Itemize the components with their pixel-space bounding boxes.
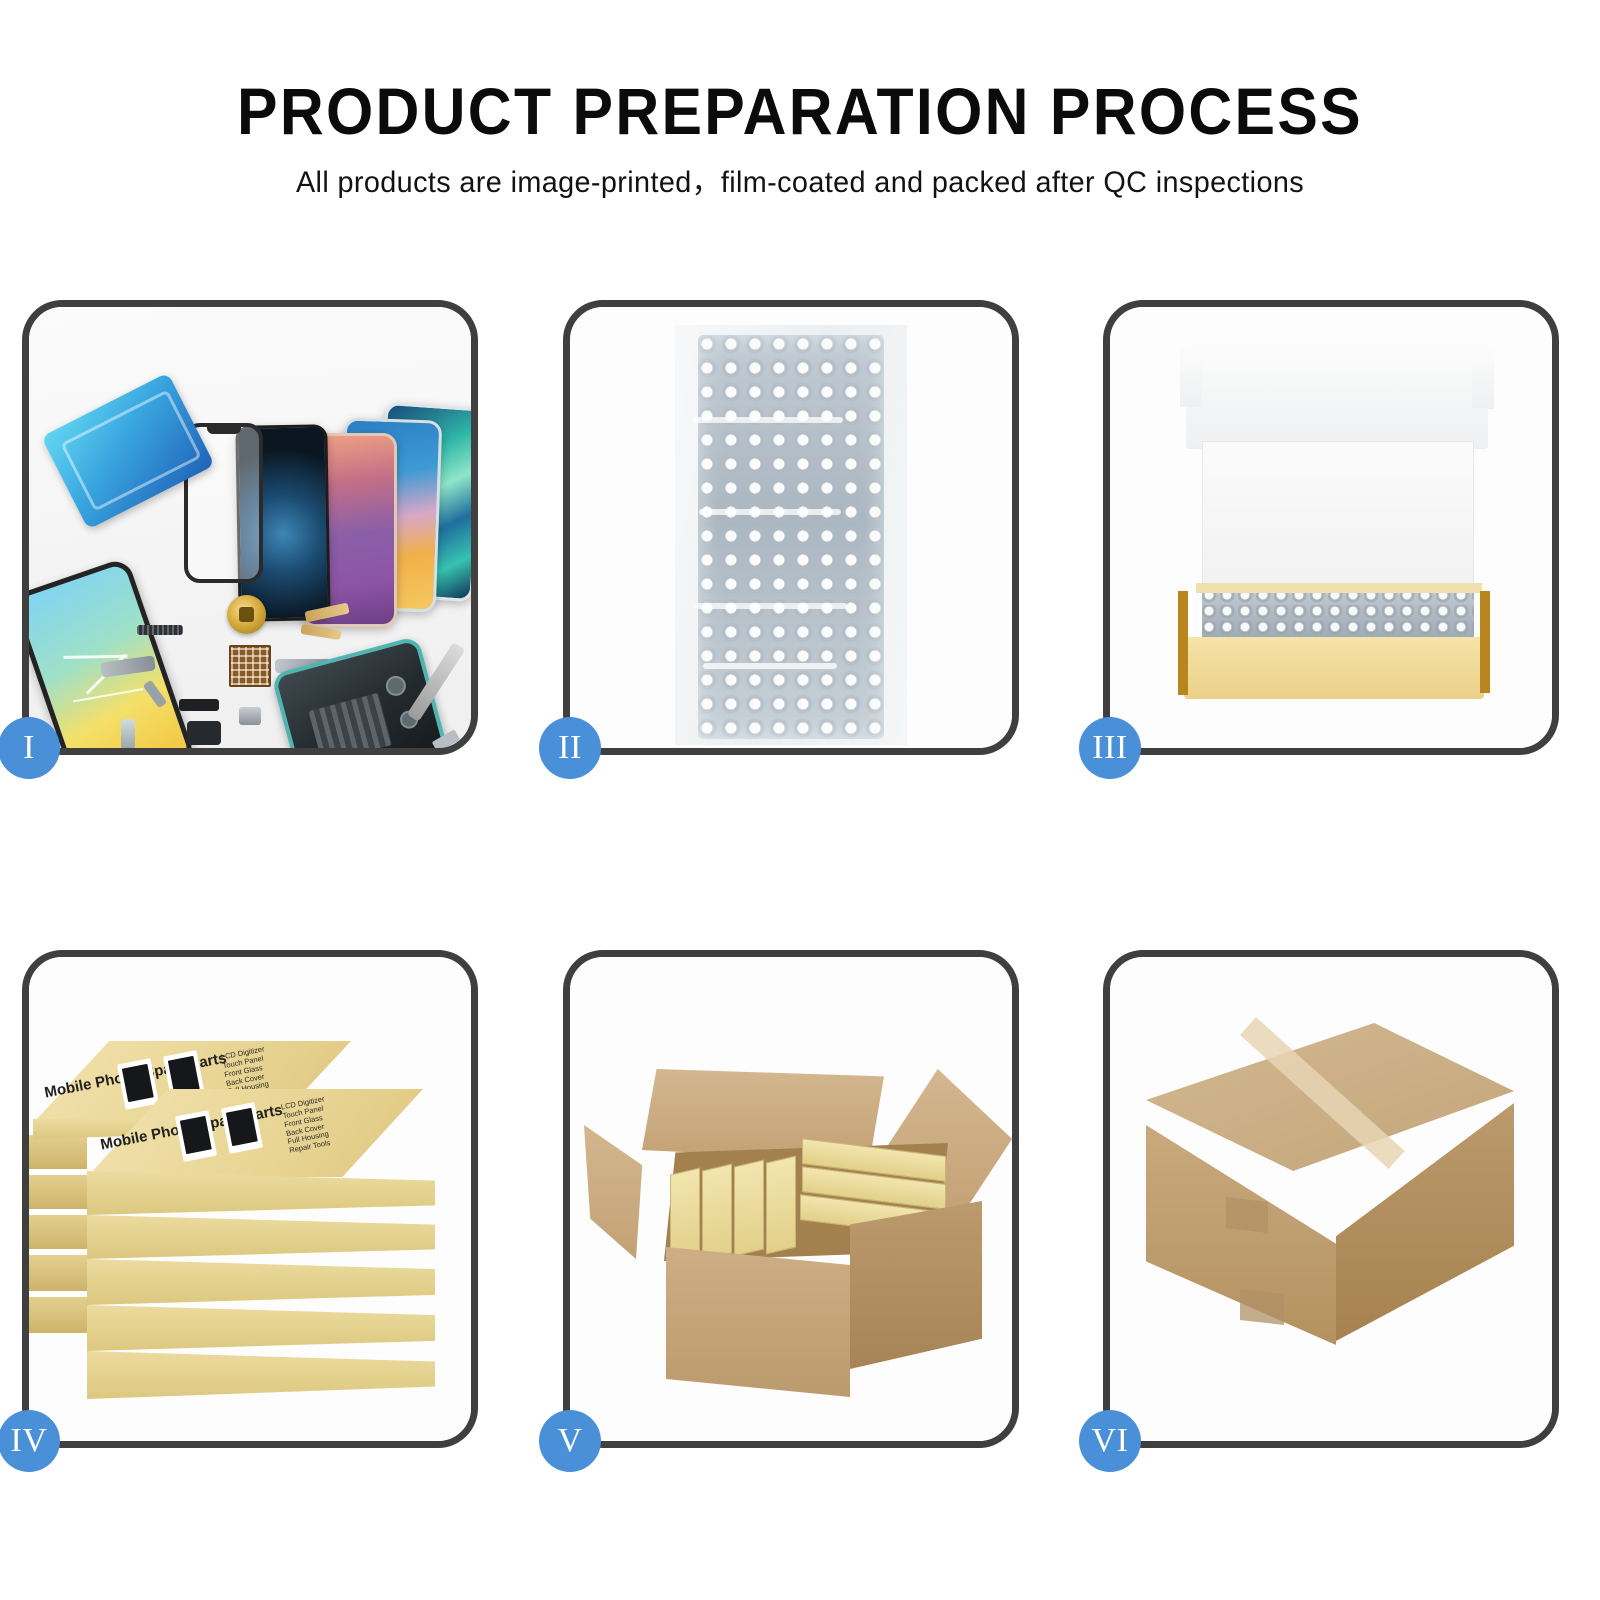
packed-retail-box <box>766 1156 796 1255</box>
bubble-bag <box>675 325 907 745</box>
page-subtitle: All products are image-printed，film-coat… <box>32 168 1568 198</box>
carton-tab-upper <box>1226 1197 1268 1233</box>
crack-line <box>64 655 128 659</box>
bubble-wrapped-product <box>1202 589 1474 641</box>
loud-speaker-module <box>187 721 221 745</box>
step-image-3 <box>1110 307 1552 748</box>
ic-chip-array <box>229 645 271 687</box>
wrap-seam <box>703 663 837 669</box>
packed-retail-box <box>734 1160 764 1257</box>
step-badge-5: V <box>539 1410 601 1472</box>
step-numeral: VI <box>1092 1424 1129 1458</box>
tray-side-right <box>1480 591 1490 693</box>
bubble-wrap-sheet <box>698 335 884 739</box>
box-lid-flap-right <box>1472 347 1494 409</box>
step-image-2 <box>570 307 1012 748</box>
step-panel-4: Mobile Phone Spare Parts LCD Digitizer T… <box>22 950 478 1448</box>
step-image-6 <box>1110 957 1552 1441</box>
carton-right-face <box>850 1201 982 1369</box>
camera-lens <box>384 674 408 698</box>
carton-tab-lower <box>1240 1289 1284 1325</box>
earpiece-speaker-mesh <box>137 625 183 635</box>
step-numeral: V <box>557 1424 582 1458</box>
tray-rim-top <box>1196 583 1482 593</box>
box-lid-upright <box>1186 343 1488 449</box>
battery-cells <box>309 693 392 748</box>
step-numeral: I <box>23 731 35 765</box>
step-image-5 <box>570 957 1012 1441</box>
step-panel-2: II <box>563 300 1019 755</box>
page-header: PRODUCT PREPARATION PROCESS All products… <box>0 0 1600 250</box>
foam-insert-sheet <box>1202 441 1474 593</box>
crack-line <box>73 688 143 702</box>
charging-port-flex <box>179 699 219 711</box>
sim-card-tray <box>121 719 135 748</box>
wrap-seam <box>699 509 841 515</box>
step-image-4: Mobile Phone Spare Parts LCD Digitizer T… <box>29 957 471 1441</box>
wrap-seam <box>693 417 843 423</box>
step-badge-2: II <box>539 717 601 779</box>
step-panel-6: VI <box>1103 950 1559 1448</box>
gold-tray-front <box>1184 637 1484 699</box>
step-image-1 <box>29 307 471 748</box>
carton-front-face <box>666 1247 850 1397</box>
packed-retail-box <box>702 1164 732 1261</box>
step-numeral: III <box>1092 731 1127 765</box>
page-title: PRODUCT PREPARATION PROCESS <box>64 78 1536 144</box>
vibration-motor <box>239 707 261 725</box>
step-panel-1: I <box>22 300 478 755</box>
wrap-seam <box>695 603 847 609</box>
step-panel-5: V <box>563 950 1019 1448</box>
step-badge-1: I <box>0 717 60 779</box>
step-badge-6: VI <box>1079 1410 1141 1472</box>
tray-side-left <box>1178 591 1188 695</box>
step-numeral: II <box>558 731 582 765</box>
step-panel-3: III <box>1103 300 1559 755</box>
wireless-charging-coil <box>227 595 266 634</box>
box-lid-flap-left <box>1180 347 1202 407</box>
step-badge-3: III <box>1079 717 1141 779</box>
step-numeral: IV <box>11 1424 48 1458</box>
step-badge-4: IV <box>0 1410 60 1472</box>
